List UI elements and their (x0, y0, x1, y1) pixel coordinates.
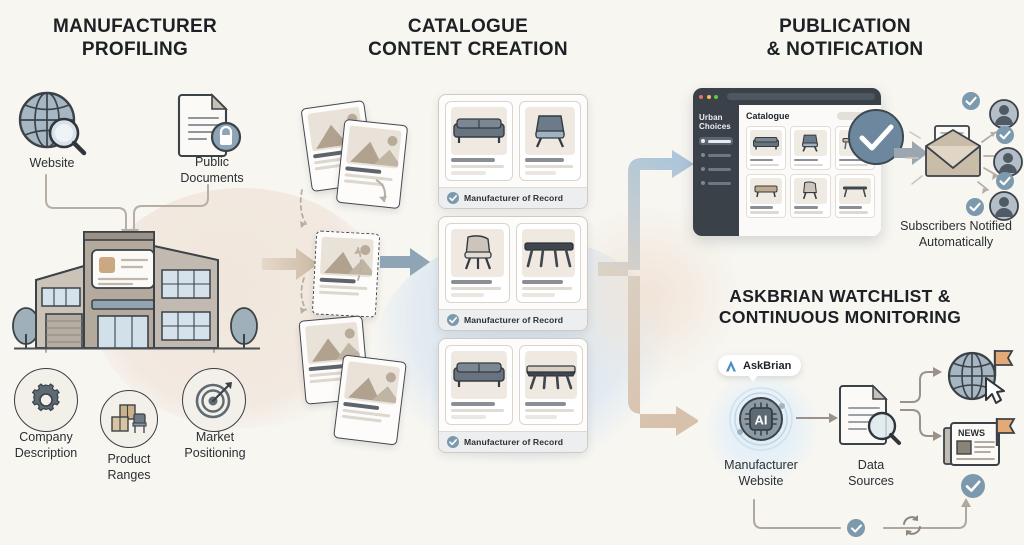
title-line-1: MANUFACTURER (10, 15, 260, 38)
globe-magnifier-icon (14, 88, 92, 162)
product-line (451, 409, 504, 412)
sidebar-item-0[interactable] (699, 137, 733, 145)
sofa-icon (752, 136, 780, 151)
product-line (522, 287, 572, 290)
continuous-monitoring-loop (752, 498, 978, 544)
traffic-light-minimize[interactable] (707, 95, 711, 99)
product-line (839, 211, 868, 213)
bullet-icon (701, 167, 705, 171)
grid-product-3[interactable] (746, 174, 786, 218)
ai-chip-node[interactable]: AI (728, 386, 794, 452)
product-thumb (451, 229, 504, 277)
product-thumb (525, 351, 577, 399)
askbrian-chip-label: AskBrian (743, 360, 791, 372)
gear-icon (28, 382, 64, 418)
document-lock-icon (176, 92, 248, 158)
product-line (750, 211, 779, 213)
catalogue-group-0: Manufacturer of Record (438, 94, 588, 209)
product-thumb (794, 130, 826, 156)
product-thumb (839, 178, 871, 204)
console-table-icon (842, 183, 868, 199)
globe-flag-cursor-icon (944, 348, 1016, 404)
sidebar-item-label (708, 140, 731, 143)
sidebar-item-label (708, 154, 731, 157)
product-line (525, 158, 564, 162)
product-card[interactable] (516, 223, 581, 303)
data-sources-caption: Data Sources (828, 458, 914, 489)
armchair-icon (800, 133, 820, 153)
subscriber-check-1 (996, 126, 1014, 144)
document-magnifier-icon (838, 384, 900, 446)
product-card[interactable] (445, 223, 510, 303)
product-line (451, 165, 504, 168)
catalogue-row (445, 345, 581, 425)
section-title-manufacturer: MANUFACTURER PROFILING (10, 15, 260, 61)
sofa-icon (451, 360, 507, 390)
profile-attribute-label-2: Market Positioning (170, 430, 260, 461)
sidebar-item-3[interactable] (699, 179, 733, 187)
sidebar-item-label (708, 182, 731, 185)
news-monitor-node[interactable]: NEWS (942, 418, 1016, 470)
catalogue-group-2: Manufacturer of Record (438, 338, 588, 453)
data-sources-node[interactable] (838, 384, 900, 446)
product-line (525, 165, 573, 168)
product-line (451, 402, 495, 406)
title-line-2: & NOTIFICATION (726, 38, 964, 61)
product-line (451, 158, 495, 162)
product-thumb (750, 130, 782, 156)
product-card[interactable] (519, 345, 583, 425)
profile-attribute-company-description[interactable] (14, 368, 78, 432)
product-line (794, 164, 823, 166)
askbrian-chip[interactable]: AskBrian (718, 355, 801, 376)
doc-image-placeholder (344, 361, 400, 405)
title-line-1: ASKBRIAN WATCHLIST & (690, 286, 990, 307)
profile-attribute-label-1: Product Ranges (86, 452, 172, 483)
title-line-1: CATALOGUE (332, 15, 604, 38)
refresh-loop-icon (904, 515, 920, 536)
subscriber-check-0 (962, 92, 980, 110)
browser-titlebar (693, 88, 881, 105)
product-line (451, 280, 492, 284)
profile-attribute-product-ranges[interactable] (100, 390, 158, 448)
product-card[interactable] (445, 345, 513, 425)
profile-attribute-market-positioning[interactable] (182, 368, 246, 432)
address-bar[interactable] (727, 93, 876, 100)
manufacturer-of-record-badge: Manufacturer of Record (439, 187, 587, 208)
product-thumb (522, 229, 575, 277)
target-arrow-icon (194, 380, 234, 420)
product-line (451, 415, 486, 418)
news-headline: NEWS (958, 428, 985, 438)
subscribers-notified-caption: Subscribers Notified Automatically (884, 219, 1024, 250)
product-line (525, 402, 566, 406)
badge-label: Manufacturer of Record (464, 193, 563, 203)
product-line (794, 159, 817, 162)
askbrian-chip-tail (748, 375, 758, 382)
product-line (525, 409, 574, 412)
title-line-2: CONTINUOUS MONITORING (690, 307, 990, 328)
check-icon (447, 314, 459, 326)
section-title-publication: PUBLICATION & NOTIFICATION (726, 15, 964, 61)
manufacturer-of-record-badge: Manufacturer of Record (439, 431, 587, 452)
grid-product-4[interactable] (790, 174, 830, 218)
product-line (451, 293, 484, 296)
catalogue-row (445, 223, 581, 303)
product-line (750, 159, 773, 162)
product-line (750, 164, 779, 166)
product-line (750, 206, 773, 209)
title-line-1: PUBLICATION (726, 15, 964, 38)
product-card[interactable] (519, 101, 581, 181)
brand-name: Urban Choices (699, 113, 733, 131)
section-title-catalogue: CATALOGUE CONTENT CREATION (332, 15, 604, 61)
infographic-canvas: MANUFACTURER PROFILING CATALOGUE CONTENT… (0, 0, 1024, 545)
browser-sidebar: Urban Choices (693, 105, 739, 236)
check-icon (447, 192, 459, 204)
grid-product-0[interactable] (746, 126, 786, 170)
website-icon-group[interactable] (14, 88, 92, 162)
boxes-chair-icon (110, 402, 148, 436)
arrow-docs-to-catalogue (380, 246, 434, 278)
accent-chair-icon (459, 234, 497, 272)
manufacturer-building (6, 204, 268, 352)
product-line (839, 206, 862, 209)
bench-table-icon (525, 359, 577, 391)
console-table-icon (523, 237, 575, 269)
bullet-icon (701, 139, 705, 143)
product-line (794, 211, 823, 213)
check-icon (447, 436, 459, 448)
product-line (525, 415, 557, 418)
subscriber-check-2 (996, 172, 1014, 190)
website-label: Website (2, 156, 102, 172)
ottoman-icon (753, 183, 779, 199)
ai-chip-label: AI (755, 413, 768, 428)
sidebar-item-2[interactable] (699, 165, 733, 173)
product-thumb (794, 178, 826, 204)
armchair-icon (531, 112, 569, 150)
manufacturer-of-record-badge: Manufacturer of Record (439, 309, 587, 330)
traffic-light-maximize[interactable] (714, 95, 718, 99)
title-line-2: PROFILING (10, 38, 260, 61)
ai-chip-icon: AI (728, 386, 794, 452)
sofa-icon (451, 116, 507, 146)
badge-label: Manufacturer of Record (464, 315, 563, 325)
accent-chair-icon (800, 181, 820, 201)
product-line (525, 171, 556, 174)
monitoring-check-badge (961, 474, 985, 498)
arrow-ai-to-sources (796, 408, 840, 428)
subscriber-check-3 (966, 198, 984, 216)
profile-attribute-label-0: Company Description (0, 430, 92, 461)
product-thumb (750, 178, 782, 204)
product-line (522, 280, 563, 284)
public-documents-icon-group[interactable] (176, 92, 248, 158)
traffic-light-close[interactable] (699, 95, 703, 99)
product-thumb (451, 351, 507, 399)
web-monitor-node[interactable] (944, 348, 1016, 404)
product-card[interactable] (445, 101, 513, 181)
product-line (794, 206, 817, 209)
title-line-2: CONTENT CREATION (332, 38, 604, 61)
doc-image-placeholder (346, 125, 402, 168)
news-flag-icon: NEWS (942, 418, 1016, 470)
bullet-icon (701, 181, 705, 185)
sidebar-item-1[interactable] (699, 151, 733, 159)
raw-doc-4 (333, 354, 407, 445)
product-line (451, 171, 486, 174)
product-line (451, 287, 501, 290)
sidebar-item-label (708, 168, 731, 171)
product-thumb (525, 107, 575, 155)
public-documents-label: Public Documents (160, 155, 264, 186)
catalogue-group-1: Manufacturer of Record (438, 216, 588, 331)
manufacturer-website-caption: Manufacturer Website (708, 458, 814, 489)
grid-product-5[interactable] (835, 174, 875, 218)
product-line (522, 293, 555, 296)
section-title-watchlist: ASKBRIAN WATCHLIST & CONTINUOUS MONITORI… (690, 286, 990, 329)
bullet-icon (701, 153, 705, 157)
catalogue-row (445, 101, 581, 181)
page-title: Catalogue (746, 111, 790, 121)
loop-check-icon (847, 519, 865, 537)
badge-label: Manufacturer of Record (464, 437, 563, 447)
grid-product-1[interactable] (790, 126, 830, 170)
product-thumb (451, 107, 507, 155)
askbrian-logo-icon (724, 359, 738, 373)
